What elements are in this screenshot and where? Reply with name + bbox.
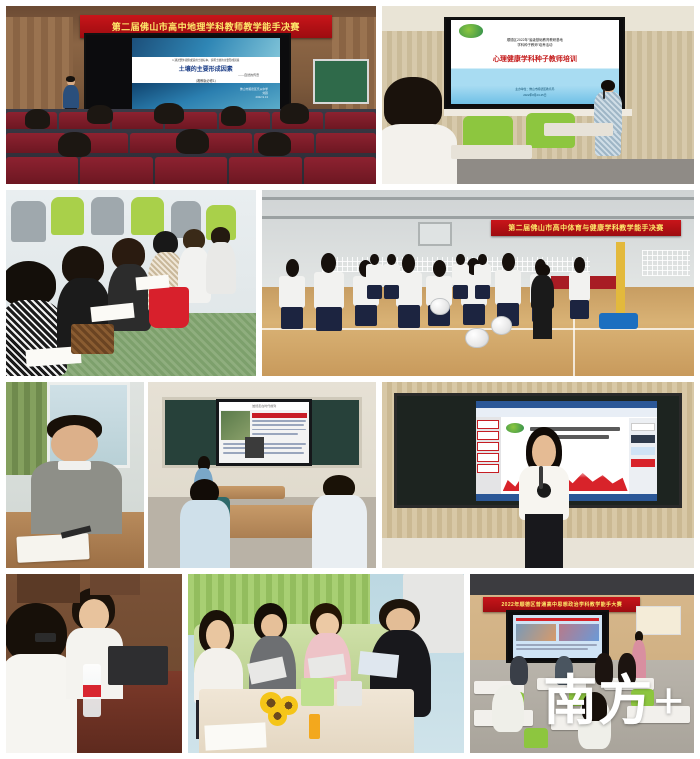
slide-subtitle2: ——自然的传奇: [238, 73, 259, 77]
slide-title: 心理健康学科种子教师培训: [493, 54, 577, 64]
photo-presentation-with-microphone: [382, 382, 694, 568]
photo-classroom-demo-lesson: 始终走在时代前列: [148, 382, 376, 568]
slide-line2: 学科种子教师”培养活动: [517, 42, 552, 47]
photo-politics-teaching-contest: 2022年顺德区普通高中思想政治学科教学能手大赛: [470, 574, 694, 753]
photo-teacher-interview: [6, 382, 144, 568]
photo-collage: 第二届佛山市高中地理学科教师教学能手决赛 1.通过野外观察或运用土壤标本，说明土…: [0, 0, 700, 759]
slide-date: 2022.9.13: [240, 95, 268, 99]
photo-geography-teaching-final: 第二届佛山市高中地理学科教师教学能手决赛 1.通过野外观察或运用土壤标本，说明土…: [6, 6, 376, 184]
slide-date: 2022年8月23-25日: [523, 93, 546, 97]
photo-psychology-seed-teacher-training: 顺德区2022年“省级基础教育教研基地 学科种子教师”培养活动 心理健康学科种子…: [382, 6, 694, 184]
slide-org: 主办单位：佛山市顺德区教育局: [515, 87, 554, 91]
slide-subtitle: 1.通过野外观察或运用土壤标本，说明土壤的主要形成因素: [172, 58, 239, 62]
watermark-nanfang: 南方+: [543, 656, 685, 735]
lesson-slide-subtitle: 始终走在时代前列: [252, 404, 276, 408]
slide-title: 土壤的主要形成因素: [179, 64, 233, 73]
photo-laptop-collaboration: [6, 574, 182, 753]
banner-pe-final: 第二届佛山市高中体育与健康学科教学能手决赛: [491, 220, 681, 237]
photo-attendees-taking-notes: [6, 190, 256, 376]
photo-group-reading-discussion: [188, 574, 464, 753]
photo-pe-health-teaching-final: 第二届佛山市高中体育与健康学科教学能手决赛: [262, 190, 694, 376]
